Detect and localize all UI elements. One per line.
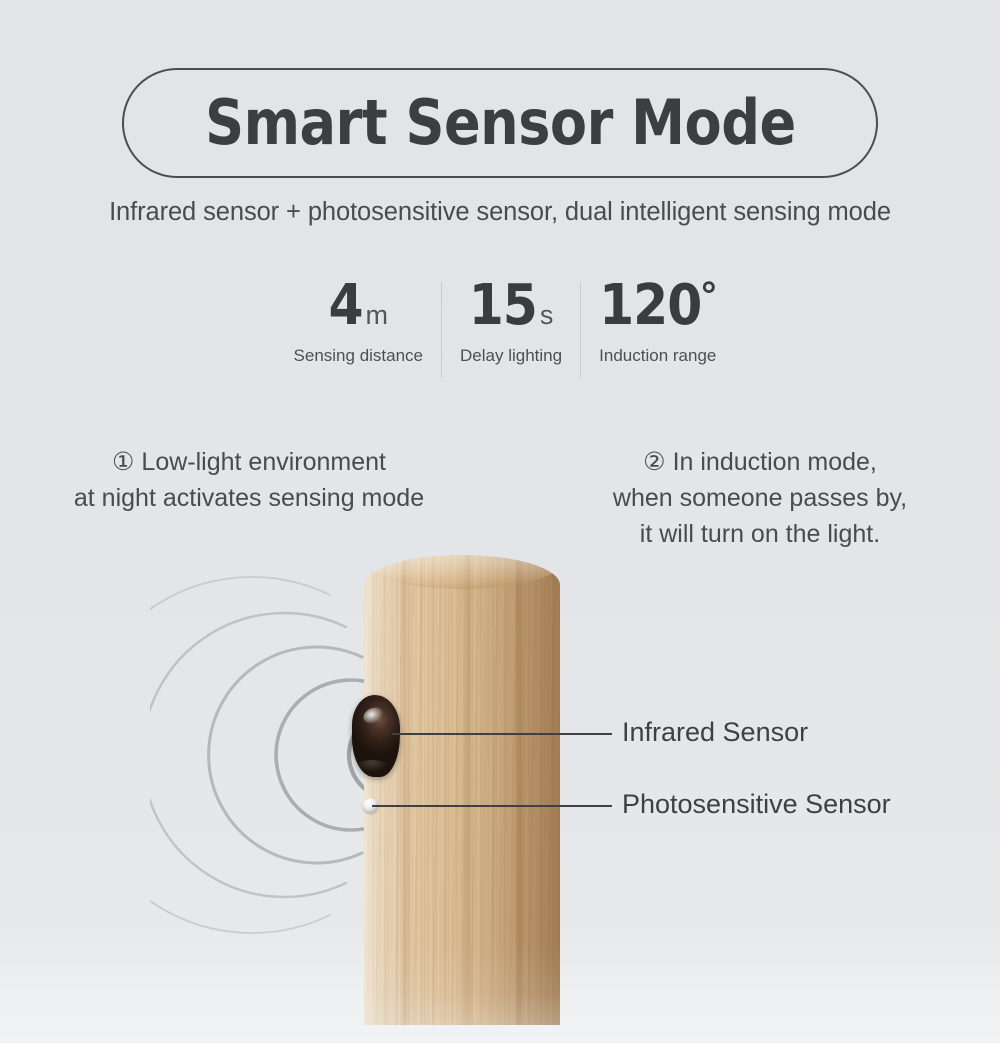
callout-label-infrared: Infrared Sensor <box>622 719 808 746</box>
bullet-line: ①Low-light environment <box>24 444 474 480</box>
bullet-line: at night activates sensing mode <box>24 480 474 516</box>
spec-value: 15 s <box>469 278 554 336</box>
leader-line-photosensitive <box>372 805 612 807</box>
spec-value: 120 ° <box>599 278 716 336</box>
spec-value: 4 m <box>328 278 388 336</box>
bullet-line: when someone passes by, <box>540 480 980 516</box>
dome-rim-highlight <box>355 760 389 772</box>
leader-line-infrared <box>392 733 612 735</box>
bullet-text: In induction mode, <box>673 448 877 476</box>
product-illustration: Infrared Sensor Photosensitive Sensor <box>0 540 1000 1043</box>
infrared-sensor-dome <box>352 695 400 777</box>
spec-sensing-distance: 4 m Sensing distance <box>276 278 441 366</box>
spec-unit: m <box>366 302 389 329</box>
spec-unit: ° <box>701 277 716 315</box>
bullet-marker-icon: ② <box>643 448 665 476</box>
spec-induction-range: 120 ° Induction range <box>581 278 734 366</box>
spec-label: Induction range <box>599 346 716 366</box>
spec-unit: s <box>540 302 554 329</box>
bullet-text: Low-light environment <box>141 448 386 476</box>
bullet-line: ②In induction mode, <box>540 444 980 480</box>
bullet-low-light: ①Low-light environment at night activate… <box>24 444 474 516</box>
spec-stats-row: 4 m Sensing distance 15 s Delay lighting… <box>255 278 755 383</box>
wood-cylinder-bottom-fade <box>364 945 560 1025</box>
infographic-page: Smart Sensor Mode Infrared sensor + phot… <box>0 0 1000 1043</box>
bullet-marker-icon: ① <box>112 448 134 476</box>
spec-number: 15 <box>469 278 537 334</box>
bullet-induction-mode: ②In induction mode, when someone passes … <box>540 444 980 552</box>
spec-label: Delay lighting <box>460 346 562 366</box>
spec-number: 4 <box>328 278 362 334</box>
callout-label-photosensitive: Photosensitive Sensor <box>622 791 891 818</box>
spec-delay-lighting: 15 s Delay lighting <box>442 278 580 366</box>
spec-number: 120 <box>599 278 701 334</box>
wood-cylinder-top-cap <box>364 555 560 589</box>
title-pill: Smart Sensor Mode <box>122 68 878 178</box>
page-title: Smart Sensor Mode <box>205 92 796 154</box>
spec-label: Sensing distance <box>294 346 423 366</box>
subtitle-text: Infrared sensor + photosensitive sensor,… <box>0 198 1000 227</box>
wood-cylinder-body <box>364 555 560 1025</box>
